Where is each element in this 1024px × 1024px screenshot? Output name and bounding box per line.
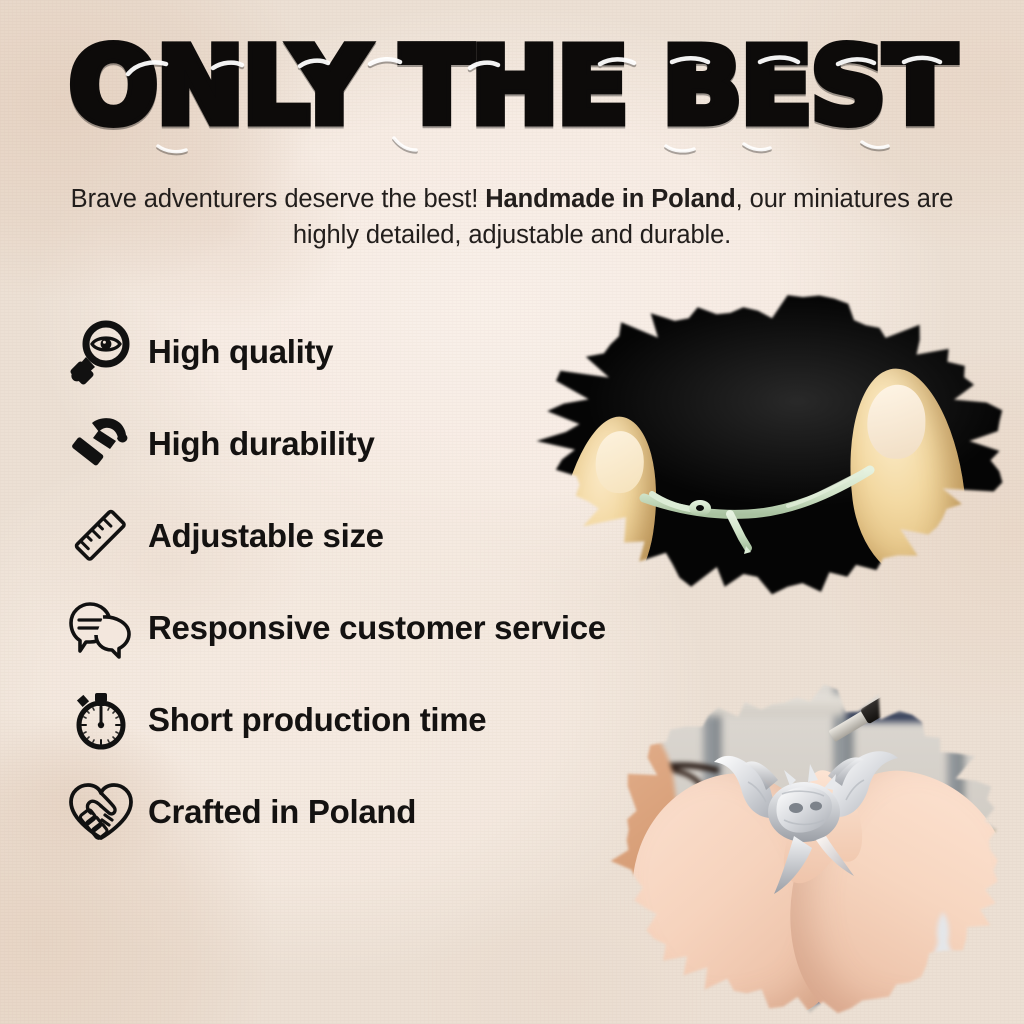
subtitle: Brave adventurers deserve the best! Hand… xyxy=(62,181,962,254)
speech-bubbles-icon xyxy=(62,589,140,667)
small-miniature xyxy=(926,908,960,970)
feature-label: Short production time xyxy=(148,701,486,739)
page-title-text: ONLY THE BEST xyxy=(69,25,954,147)
stopwatch-icon xyxy=(62,681,140,759)
page-title: ONLY THE BEST xyxy=(0,34,1024,138)
feature-label: High durability xyxy=(148,425,375,463)
hammer-icon xyxy=(62,405,140,483)
fingernail-right xyxy=(867,384,926,459)
feature-item-high-quality: High quality xyxy=(62,306,762,398)
ruler-icon xyxy=(62,497,140,575)
feature-item-high-durability: High durability xyxy=(62,398,762,490)
feature-label: Responsive customer service xyxy=(148,609,606,647)
feature-label: High quality xyxy=(148,333,333,371)
feature-item-customer-service: Responsive customer service xyxy=(62,582,762,674)
feature-label: Adjustable size xyxy=(148,517,384,555)
feature-item-adjustable-size: Adjustable size xyxy=(62,490,762,582)
feature-list: High quality High durability xyxy=(62,306,762,858)
handshake-heart-icon xyxy=(62,773,140,851)
feature-label: Crafted in Poland xyxy=(148,793,416,831)
promo-graphic: ONLY THE BEST xyxy=(0,0,1024,1024)
subtitle-lead: Brave adventurers deserve the best! xyxy=(71,185,486,213)
feature-item-production-time: Short production time xyxy=(62,674,762,766)
magnifier-eye-icon xyxy=(62,313,140,391)
feature-item-crafted-in-poland: Crafted in Poland xyxy=(62,766,762,858)
subtitle-emphasis: Handmade in Poland xyxy=(485,185,735,213)
